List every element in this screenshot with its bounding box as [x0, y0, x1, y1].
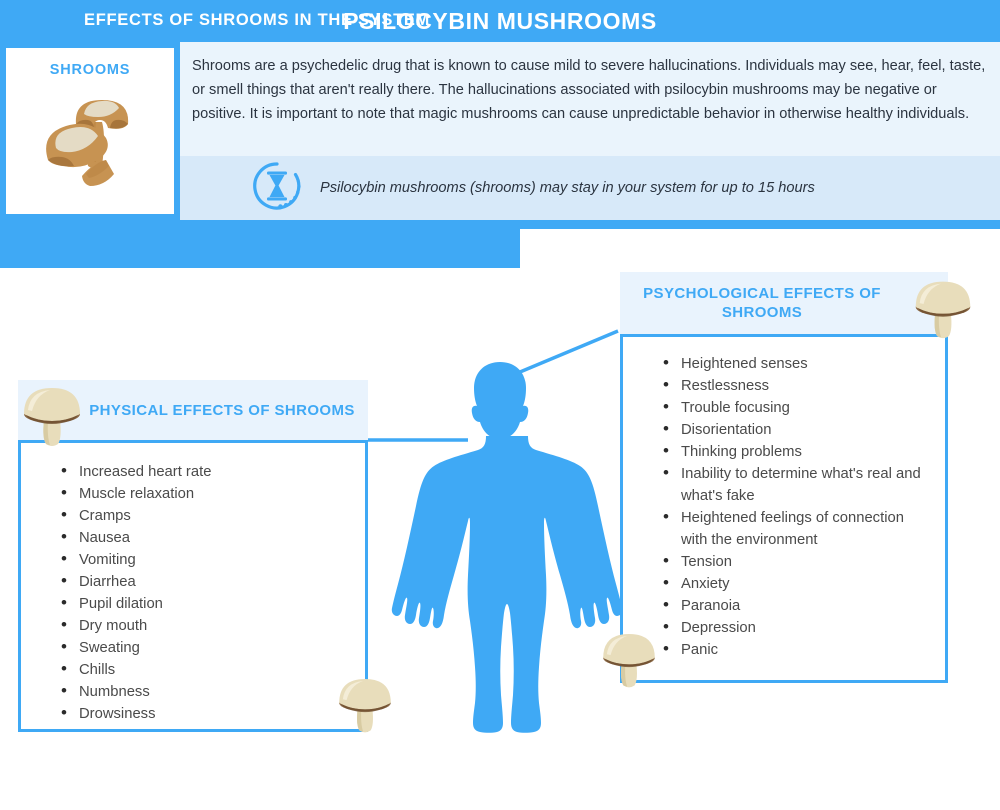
- mushrooms-illustration: [20, 80, 160, 203]
- duration-note: Psilocybin mushrooms (shrooms) may stay …: [180, 156, 1000, 220]
- list-item: Muscle relaxation: [57, 483, 353, 505]
- mushroom-icon: [14, 376, 90, 455]
- list-item: Trouble focusing: [659, 397, 931, 419]
- psychological-effects-panel: PSYCHOLOGICAL EFFECTS OF SHROOMS Heighte…: [620, 272, 948, 683]
- list-item: Depression: [659, 617, 931, 639]
- list-item: Vomiting: [57, 549, 353, 571]
- list-item: Drowsiness: [57, 703, 353, 725]
- physical-effects-header: PHYSICAL EFFECTS OF SHROOMS: [18, 380, 368, 440]
- list-item: Pupil dilation: [57, 593, 353, 615]
- list-item: Cramps: [57, 505, 353, 527]
- mushroom-icon: [594, 622, 664, 697]
- shrooms-card: SHROOMS: [6, 48, 174, 214]
- list-item: Heightened senses: [659, 353, 931, 375]
- physical-effects-body: Increased heart rate Muscle relaxation C…: [18, 440, 368, 732]
- list-item: Thinking problems: [659, 441, 931, 463]
- psychological-effects-body: Heightened senses Restlessness Trouble f…: [620, 334, 948, 683]
- mushroom-icon: [330, 667, 400, 742]
- list-item: Disorientation: [659, 419, 931, 441]
- psychological-effects-list: Heightened senses Restlessness Trouble f…: [659, 353, 931, 661]
- mushroom-icon: [906, 270, 980, 347]
- shrooms-card-label: SHROOMS: [50, 62, 131, 78]
- physical-effects-title: PHYSICAL EFFECTS OF SHROOMS: [89, 401, 355, 420]
- duration-note-text: Psilocybin mushrooms (shrooms) may stay …: [320, 180, 815, 196]
- list-item: Panic: [659, 639, 931, 661]
- list-item: Heightened feelings of connection with t…: [659, 507, 931, 551]
- list-item: Paranoia: [659, 595, 931, 617]
- psychological-effects-header: PSYCHOLOGICAL EFFECTS OF SHROOMS: [620, 272, 948, 334]
- psychological-effects-title: PSYCHOLOGICAL EFFECTS OF SHROOMS: [620, 284, 904, 322]
- physical-effects-panel: PHYSICAL EFFECTS OF SHROOMS Increased he…: [18, 380, 368, 732]
- list-item: Sweating: [57, 637, 353, 659]
- physical-effects-list: Increased heart rate Muscle relaxation C…: [57, 461, 353, 725]
- list-item: Diarrhea: [57, 571, 353, 593]
- list-item: Anxiety: [659, 573, 931, 595]
- list-item: Restlessness: [659, 375, 931, 397]
- list-item: Nausea: [57, 527, 353, 549]
- description-text: Shrooms are a psychedelic drug that is k…: [192, 54, 988, 126]
- section-banner: [0, 228, 520, 268]
- hourglass-icon: [250, 159, 304, 218]
- infographic-root: PSILOCYBIN MUSHROOMS Shrooms are a psych…: [0, 0, 1000, 810]
- human-body-silhouette: [378, 360, 622, 745]
- list-item: Tension: [659, 551, 931, 573]
- description-panel: Shrooms are a psychedelic drug that is k…: [180, 42, 1000, 220]
- section-banner-title: EFFECTS OF SHROOMS IN THE SYSTEM: [84, 0, 430, 40]
- list-item: Increased heart rate: [57, 461, 353, 483]
- list-item: Chills: [57, 659, 353, 681]
- list-item: Inability to determine what's real and w…: [659, 463, 931, 507]
- list-item: Numbness: [57, 681, 353, 703]
- list-item: Dry mouth: [57, 615, 353, 637]
